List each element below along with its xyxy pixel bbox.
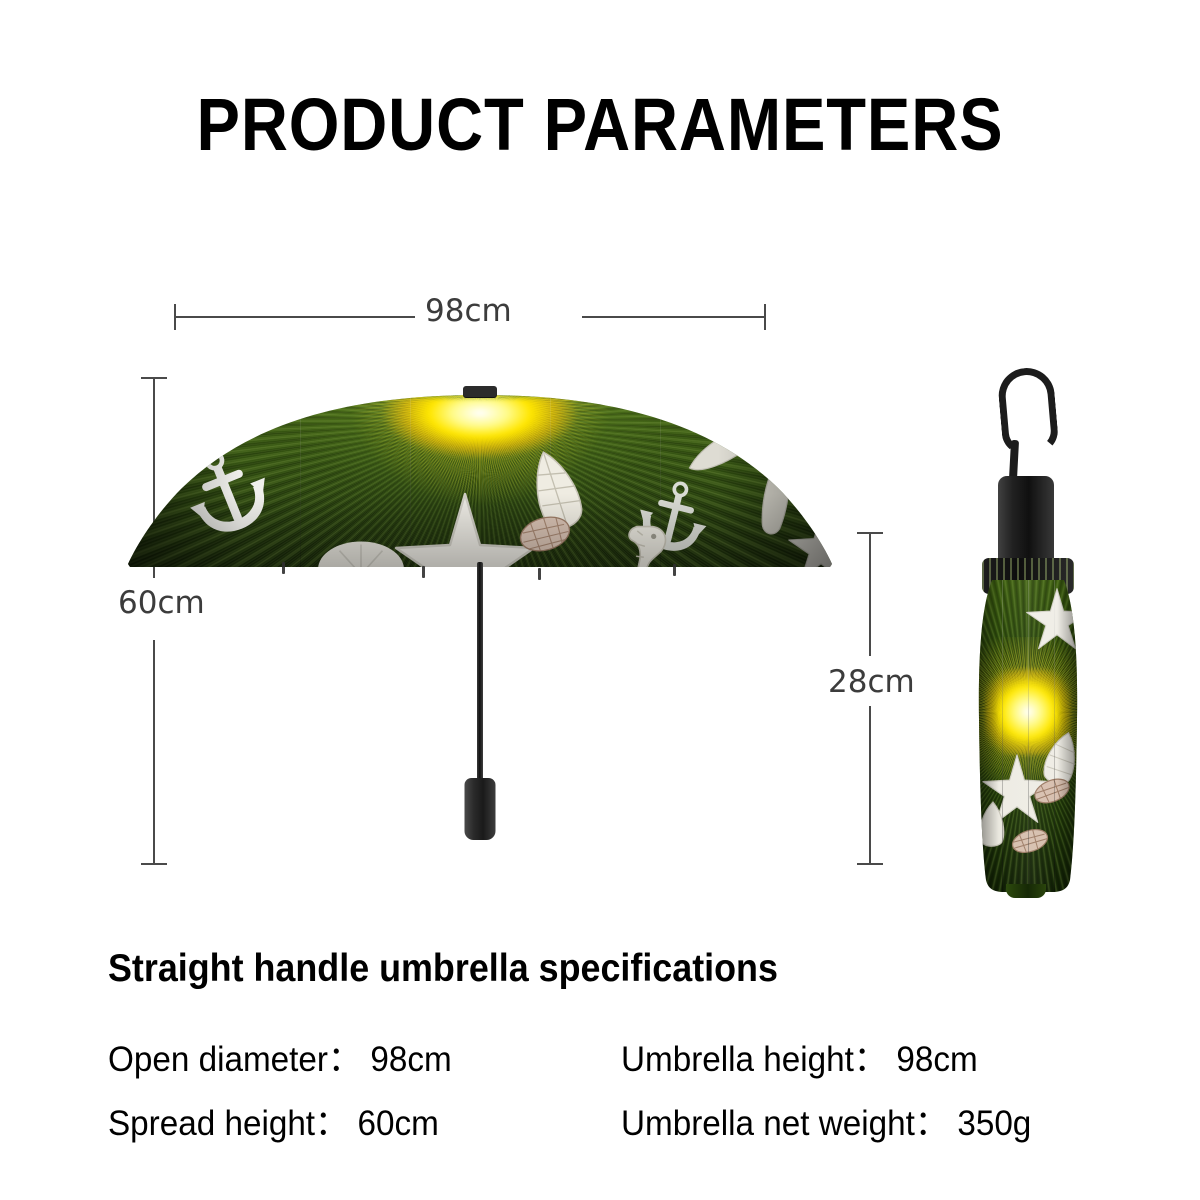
umbrella-finial — [463, 386, 497, 397]
rib-tip — [282, 562, 285, 574]
folded-dimension-line-bottom — [869, 706, 871, 865]
spec-heading: Straight handle umbrella specifications — [108, 946, 778, 992]
page-title: PRODUCT PARAMETERS — [72, 88, 1128, 162]
folded-umbrella-body — [976, 580, 1080, 892]
spec-umbrella-height: Umbrella height： 98cm — [621, 1031, 1093, 1082]
rib-tip — [673, 564, 676, 576]
height-dimension-tick-top — [141, 377, 167, 379]
width-dimension-line-right — [582, 316, 766, 318]
width-dimension-tick-left — [174, 304, 176, 330]
spec-row: Open diameter： 98cm Umbrella height： 98c… — [108, 1024, 1118, 1088]
folded-dimension-label: 28cm — [828, 664, 915, 700]
folded-umbrella-handle — [998, 476, 1054, 564]
wrist-strap-tail — [1009, 440, 1019, 480]
spec-open-diameter: Open diameter： 98cm — [108, 1031, 595, 1082]
height-dimension-tick-bottom — [141, 863, 167, 865]
open-umbrella-illustration — [120, 392, 840, 862]
folded-dimension-tick-bottom — [857, 863, 883, 865]
folded-body-shading — [976, 580, 1080, 892]
umbrella-canopy — [120, 392, 840, 567]
width-dimension-tick-right — [764, 304, 766, 330]
folded-dimension-line-top — [869, 533, 871, 656]
spec-row: Spread height： 60cm Umbrella net weight：… — [108, 1088, 1118, 1152]
canopy-shading — [120, 392, 840, 567]
width-dimension-label: 98cm — [425, 293, 512, 329]
umbrella-shaft — [477, 562, 483, 784]
rib-tip — [538, 568, 541, 580]
folded-umbrella-illustration — [962, 368, 1094, 898]
spec-grid: Open diameter： 98cm Umbrella height： 98c… — [108, 1024, 1118, 1152]
umbrella-handle-grip — [465, 778, 496, 840]
wrist-strap-loop — [996, 366, 1059, 457]
spec-umbrella-net-weight: Umbrella net weight： 350g — [621, 1095, 1093, 1146]
width-dimension-line-left — [175, 316, 415, 318]
folded-umbrella-tip — [1006, 884, 1046, 898]
spec-spread-height: Spread height： 60cm — [108, 1095, 595, 1146]
folded-dimension-tick-top — [857, 532, 883, 534]
rib-tip — [422, 566, 425, 578]
